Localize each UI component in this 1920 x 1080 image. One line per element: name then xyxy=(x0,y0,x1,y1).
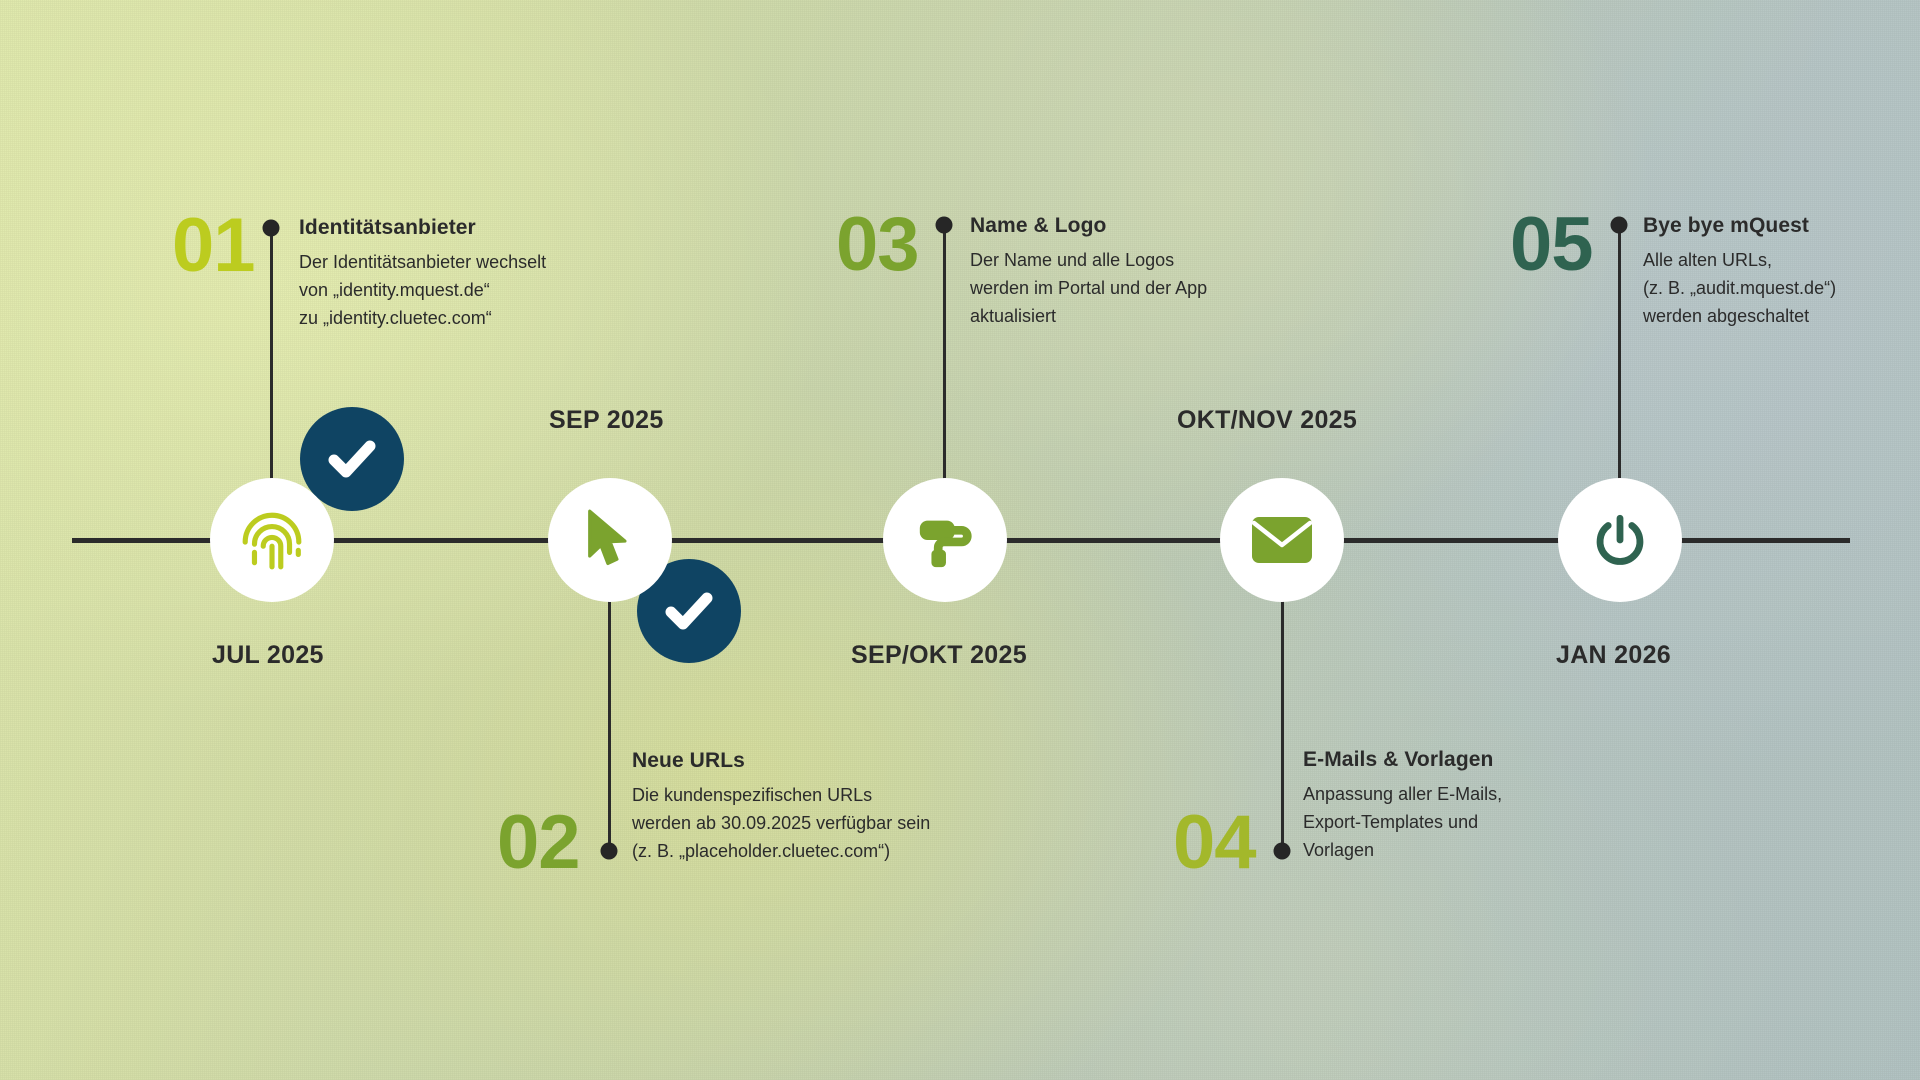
entry-body-line: werden ab 30.09.2025 verfügbar sein xyxy=(632,809,930,837)
entry-title-04: E-Mails & Vorlagen xyxy=(1303,748,1502,772)
entry-body-03: Der Name und alle Logos werden im Portal… xyxy=(970,246,1207,330)
connector-dot-04 xyxy=(1274,843,1291,860)
entry-body-line: Die kundenspezifischen URLs xyxy=(632,781,930,809)
milestone-number-03: 03 xyxy=(836,207,919,283)
milestone-number-04: 04 xyxy=(1173,805,1256,881)
milestone-number-01: 01 xyxy=(172,208,255,284)
entry-body-01: Der Identitätsanbieter wechselt von „ide… xyxy=(299,248,546,332)
check-icon xyxy=(324,431,380,487)
milestone-node-01[interactable] xyxy=(210,478,334,602)
entry-body-line: werden im Portal und der App xyxy=(970,274,1207,302)
entry-body-line: Export-Templates und xyxy=(1303,808,1502,836)
fingerprint-icon xyxy=(239,507,305,573)
milestone-node-02[interactable] xyxy=(548,478,672,602)
milestone-entry-02: Neue URLs Die kundenspezifischen URLs we… xyxy=(632,749,930,865)
entry-body-line: aktualisiert xyxy=(970,302,1207,330)
entry-body-line: Der Name und alle Logos xyxy=(970,246,1207,274)
entry-body-line: Anpassung aller E-Mails, xyxy=(1303,780,1502,808)
date-label-04: OKT/NOV 2025 xyxy=(1177,406,1357,435)
entry-title-02: Neue URLs xyxy=(632,749,930,773)
milestone-number-02: 02 xyxy=(497,805,580,881)
milestone-entry-03: Name & Logo Der Name und alle Logos werd… xyxy=(970,214,1207,330)
entry-body-line: (z. B. „placeholder.cluetec.com“) xyxy=(632,837,930,865)
entry-body-line: Vorlagen xyxy=(1303,836,1502,864)
entry-body-line: werden abgeschaltet xyxy=(1643,302,1836,330)
check-icon xyxy=(661,583,717,639)
milestone-entry-05: Bye bye mQuest Alle alten URLs, (z. B. „… xyxy=(1643,214,1836,330)
milestone-number-05: 05 xyxy=(1510,207,1593,283)
paint-roller-icon xyxy=(914,509,976,571)
entry-title-03: Name & Logo xyxy=(970,214,1207,238)
connector-dot-02 xyxy=(601,843,618,860)
envelope-icon xyxy=(1250,515,1314,565)
milestone-node-05[interactable] xyxy=(1558,478,1682,602)
connector-dot-01 xyxy=(263,220,280,237)
entry-body-line: (z. B. „audit.mquest.de“) xyxy=(1643,274,1836,302)
entry-title-05: Bye bye mQuest xyxy=(1643,214,1836,238)
milestone-node-04[interactable] xyxy=(1220,478,1344,602)
date-label-03: SEP/OKT 2025 xyxy=(851,641,1027,670)
entry-body-04: Anpassung aller E-Mails, Export-Template… xyxy=(1303,780,1502,864)
entry-body-line: zu „identity.cluetec.com“ xyxy=(299,304,546,332)
milestone-node-03[interactable] xyxy=(883,478,1007,602)
entry-body-02: Die kundenspezifischen URLs werden ab 30… xyxy=(632,781,930,865)
power-icon xyxy=(1591,511,1649,569)
entry-body-line: Alle alten URLs, xyxy=(1643,246,1836,274)
cursor-pointer-icon xyxy=(580,508,640,572)
date-label-02: SEP 2025 xyxy=(549,406,664,435)
milestone-entry-04: E-Mails & Vorlagen Anpassung aller E-Mai… xyxy=(1303,748,1502,864)
connector-dot-05 xyxy=(1611,217,1628,234)
date-label-01: JUL 2025 xyxy=(212,641,324,670)
milestone-entry-01: Identitätsanbieter Der Identitätsanbiete… xyxy=(299,216,546,332)
connector-dot-03 xyxy=(936,217,953,234)
entry-body-line: von „identity.mquest.de“ xyxy=(299,276,546,304)
date-label-05: JAN 2026 xyxy=(1556,641,1671,670)
entry-title-01: Identitätsanbieter xyxy=(299,216,546,240)
entry-body-05: Alle alten URLs, (z. B. „audit.mquest.de… xyxy=(1643,246,1836,330)
entry-body-line: Der Identitätsanbieter wechselt xyxy=(299,248,546,276)
